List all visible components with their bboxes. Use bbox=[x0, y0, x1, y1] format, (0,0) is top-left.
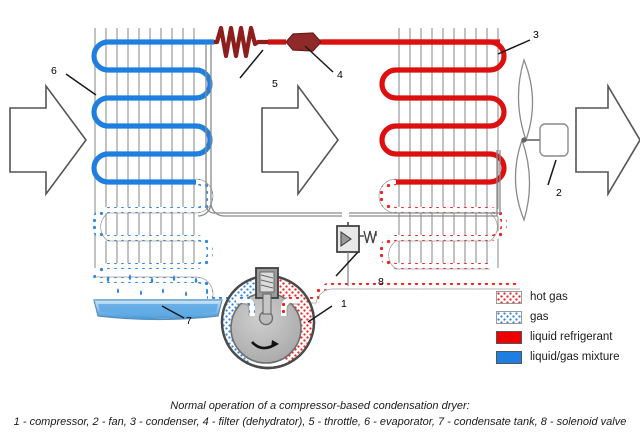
discharge-line-hotgas-outline bbox=[300, 289, 520, 303]
callout-1: 1 bbox=[341, 298, 347, 310]
legend-label-liquid-gas-mixture: liquid/gas mixture bbox=[530, 351, 619, 364]
callout-2: 2 bbox=[556, 187, 562, 199]
refrigeration-circuit-diagram: 6 5 4 3 2 8 7 1 bbox=[0, 0, 640, 444]
condensate-tank-component bbox=[94, 300, 222, 320]
caption-line-2: 1 - compressor, 2 - fan, 3 - condenser, … bbox=[0, 414, 640, 430]
legend-label-hot-gas: hot gas bbox=[530, 291, 568, 304]
airflow-arrow-middle bbox=[262, 86, 338, 194]
suction-line-gas bbox=[96, 280, 236, 300]
diagram-canvas: 6 5 4 3 2 8 7 1 hot gas gas bbox=[0, 0, 640, 444]
callout-8: 8 bbox=[378, 276, 384, 288]
airflow-arrow-inlet bbox=[10, 86, 86, 194]
callout-5: 5 bbox=[272, 78, 278, 90]
legend-item-hot-gas: hot gas bbox=[496, 288, 636, 306]
compressor-component bbox=[222, 268, 314, 368]
legend: hot gas gas liquid refrigerant liquid/ga… bbox=[496, 288, 636, 368]
legend-item-gas: gas bbox=[496, 308, 636, 326]
legend-swatch-hot-gas bbox=[496, 291, 522, 304]
discharge-line-hotgas bbox=[300, 286, 520, 300]
legend-item-liquid-refrigerant: liquid refrigerant bbox=[496, 328, 636, 346]
legend-label-gas: gas bbox=[530, 311, 549, 324]
solenoid-coil-symbol bbox=[359, 231, 376, 243]
callout-4: 4 bbox=[337, 69, 343, 81]
condenser-coil-hotgas-outline bbox=[379, 179, 497, 269]
legend-swatch-gas bbox=[496, 311, 522, 324]
legend-swatch-liquid-refrigerant bbox=[496, 331, 522, 344]
legend-swatch-liquid-gas-mixture bbox=[496, 351, 522, 364]
legend-label-liquid-refrigerant: liquid refrigerant bbox=[530, 331, 612, 344]
evaporator-coil-mixture bbox=[94, 42, 210, 182]
caption-line-1: Normal operation of a compressor-based c… bbox=[0, 398, 640, 414]
callout-6: 6 bbox=[51, 65, 57, 77]
callout-3: 3 bbox=[533, 29, 539, 41]
filter-dehydrator-component bbox=[286, 33, 321, 51]
throttle-component bbox=[214, 28, 268, 56]
condenser-fins bbox=[399, 28, 498, 268]
legend-item-liquid-gas-mixture: liquid/gas mixture bbox=[496, 348, 636, 366]
airflow-arrow-outlet bbox=[576, 86, 640, 194]
evaporator-coil-gas bbox=[94, 182, 210, 280]
figure-caption: Normal operation of a compressor-based c… bbox=[0, 398, 640, 430]
callout-7: 7 bbox=[186, 315, 192, 327]
evaporator-fins bbox=[95, 28, 194, 268]
